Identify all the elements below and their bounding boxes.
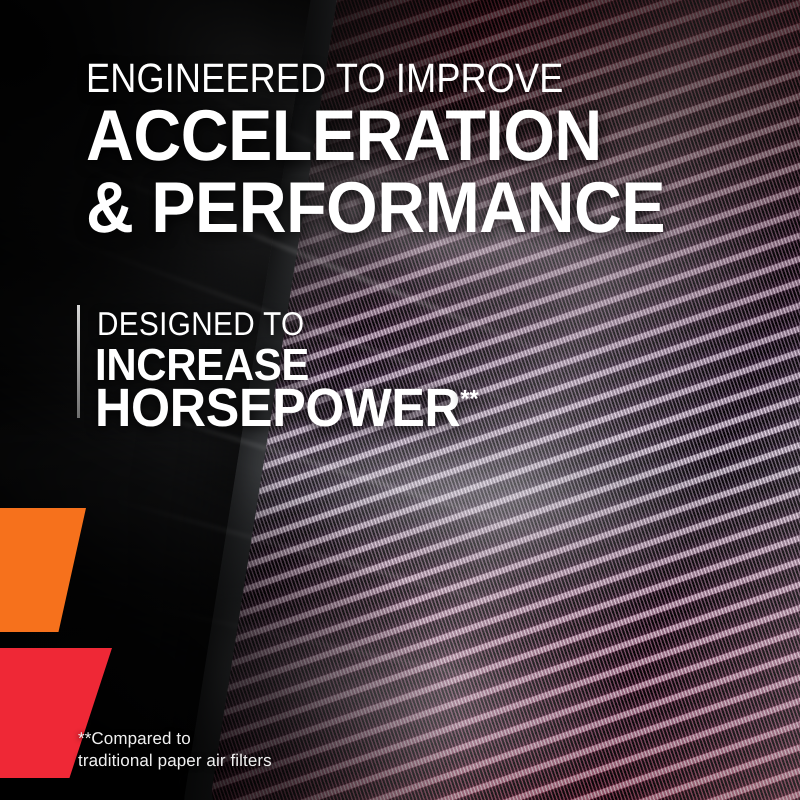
headline-line-2: & PERFORMANCE — [86, 172, 665, 244]
subhead-eyebrow: DESIGNED TO — [97, 305, 305, 343]
footnote-marker: ** — [461, 386, 479, 413]
marketing-poster: ENGINEERED TO IMPROVE ACCELERATION & PER… — [0, 0, 800, 800]
subhead-line-2-text: HORSEPOWER — [95, 378, 461, 438]
headline-eyebrow: ENGINEERED TO IMPROVE — [86, 55, 564, 102]
subhead-line-2: HORSEPOWER** — [95, 377, 479, 439]
subhead-vertical-rule — [77, 305, 80, 418]
headline-line-1: ACCELERATION — [86, 100, 602, 172]
footnote-text: **Compared to traditional paper air filt… — [78, 728, 272, 773]
